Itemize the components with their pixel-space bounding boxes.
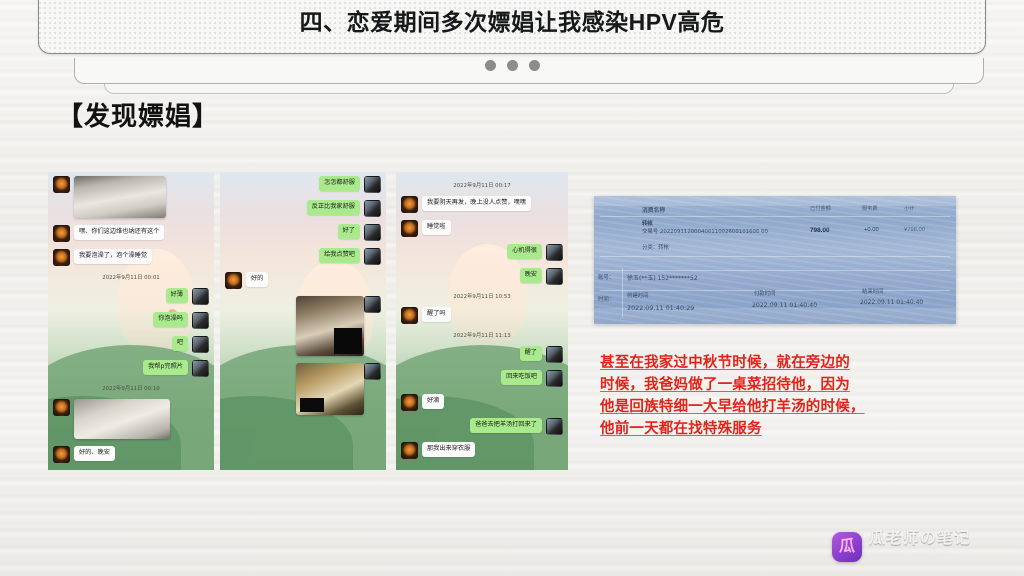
- chat-screenshot-2: 怎怎都舒服反正比我家舒服好了给我点赞吧好的: [220, 172, 386, 470]
- message-bubble[interactable]: 晚安: [520, 268, 542, 283]
- message-row: [53, 176, 209, 218]
- message-row: 好滴: [401, 394, 563, 411]
- message-bubble[interactable]: 我要阴天再发，晚上没人点赞，嘿嘿: [422, 196, 531, 211]
- avatar-self: [546, 370, 563, 387]
- message-row: 睡觉啦: [401, 220, 563, 237]
- watermark-cn-label: 瓜老师の笔记: [869, 531, 971, 547]
- message-row: [225, 296, 381, 356]
- avatar-self: [364, 296, 381, 313]
- watermark: 瓜 瓜老师の笔记 ccav online: [832, 531, 971, 562]
- message-row: 好的: [225, 272, 381, 289]
- message-row: 给我点赞吧: [225, 248, 381, 265]
- message-bubble[interactable]: 睡觉啦: [422, 220, 451, 235]
- message-bubble[interactable]: 好的、晚安: [74, 446, 115, 461]
- watermark-logo-icon: 瓜: [832, 532, 862, 562]
- message-image[interactable]: [74, 176, 166, 218]
- payment-receipt-screenshot: 消费名称 已付金额 服务费 小计 转帐 交易号 2022091120004001…: [594, 196, 956, 324]
- avatar-self: [364, 363, 381, 380]
- avatar-self: [192, 288, 209, 305]
- avatar-contact: [401, 196, 418, 213]
- chat-screenshot-3: 2022年9月11日 00:17我要阴天再发，晚上没人点赞，嘿嘿睡觉啦心机得很晚…: [396, 172, 568, 470]
- avatar-contact: [53, 249, 70, 266]
- avatar-contact: [401, 394, 418, 411]
- message-bubble[interactable]: 好的: [246, 272, 268, 287]
- message-row: 醒了吗: [401, 307, 563, 324]
- avatar-self: [364, 224, 381, 241]
- message-row: 回来吃饭吧: [401, 370, 563, 387]
- message-timestamp: 2022年9月11日 11:13: [401, 331, 563, 339]
- message-timestamp: 2022年9月11日 00:01: [53, 273, 209, 281]
- message-image[interactable]: [296, 363, 364, 415]
- message-timestamp: 2022年9月11日 10:53: [401, 292, 563, 300]
- avatar-contact: [401, 307, 418, 324]
- message-bubble[interactable]: 怎怎都舒服: [319, 176, 360, 191]
- message-bubble[interactable]: 你泡澡吗: [153, 312, 188, 327]
- avatar-contact: [225, 272, 242, 289]
- message-row: 吧: [53, 336, 209, 353]
- message-bubble[interactable]: 吧: [172, 336, 188, 351]
- message-row: 心机得很: [401, 244, 563, 261]
- message-row: 好了: [225, 224, 381, 241]
- message-row: 怎怎都舒服: [225, 176, 381, 193]
- message-bubble[interactable]: 醒了: [520, 346, 542, 361]
- message-row: 爸爸去把羊汤打回来了: [401, 418, 563, 435]
- avatar-contact: [53, 176, 70, 193]
- message-row: 反正比我家舒服: [225, 200, 381, 217]
- message-image[interactable]: [296, 296, 364, 356]
- message-row: 那我出来穿衣服: [401, 442, 563, 459]
- message-row: 我帮p完照片: [53, 360, 209, 377]
- avatar-self: [364, 248, 381, 265]
- chat-screenshot-1: 嘿、你们这边维也纳还有这个我要泡澡了，泡个澡睡觉2022年9月11日 00:01…: [48, 172, 214, 470]
- avatar-self: [546, 244, 563, 261]
- message-bubble[interactable]: 回来吃饭吧: [501, 370, 542, 385]
- message-image[interactable]: [74, 399, 170, 439]
- message-row: 好薄: [53, 288, 209, 305]
- message-row: 好的、晚安: [53, 446, 209, 463]
- avatar-self: [364, 176, 381, 193]
- red-line-4: 他前一天都在找特殊服务: [600, 418, 960, 440]
- header-dot-1: [485, 60, 496, 71]
- avatar-contact: [401, 220, 418, 237]
- section-title: 【发现嫖娼】: [57, 96, 219, 133]
- red-line-1: 甚至在我家过中秋节时候，就在旁边的: [600, 352, 960, 374]
- red-line-2: 时候，我爸妈做了一桌菜招待他，因为: [600, 374, 960, 396]
- message-row: [225, 363, 381, 415]
- message-row: 我要泡澡了，泡个澡睡觉: [53, 249, 209, 266]
- avatar-contact: [53, 225, 70, 242]
- avatar-self: [192, 336, 209, 353]
- avatar-self: [192, 360, 209, 377]
- message-bubble[interactable]: 好薄: [166, 288, 188, 303]
- message-bubble[interactable]: 心机得很: [507, 244, 542, 259]
- avatar-self: [546, 418, 563, 435]
- message-bubble[interactable]: 嘿、你们这边维也纳还有这个: [74, 225, 164, 240]
- message-row: [53, 399, 209, 439]
- watermark-text: 瓜老师の笔记 ccav online: [869, 531, 971, 562]
- page-title: 四、恋爱期间多次嫖娼让我感染HPV高危: [38, 0, 986, 54]
- message-list-1: 嘿、你们这边维也纳还有这个我要泡澡了，泡个澡睡觉2022年9月11日 00:01…: [48, 172, 214, 470]
- slide-canvas: 四、恋爱期间多次嫖娼让我感染HPV高危 【发现嫖娼】 嘿、你们这边维也纳还有这个…: [0, 0, 1024, 576]
- message-bubble[interactable]: 我要泡澡了，泡个澡睡觉: [74, 249, 152, 264]
- message-row: 你泡澡吗: [53, 312, 209, 329]
- red-line-3: 他是回族特细一大早给他打羊汤的时候，: [600, 396, 960, 418]
- message-timestamp: 2022年9月11日 00:17: [401, 181, 563, 189]
- red-annotation-text: 甚至在我家过中秋节时候，就在旁边的 时候，我爸妈做了一桌菜招待他，因为 他是回族…: [600, 352, 960, 440]
- avatar-self: [364, 200, 381, 217]
- message-row: 晚安: [401, 268, 563, 285]
- message-timestamp: 2022年9月11日 00:10: [53, 384, 209, 392]
- avatar-contact: [53, 399, 70, 416]
- watermark-en-label: ccav online: [869, 549, 971, 562]
- avatar-self: [546, 268, 563, 285]
- message-list-2: 怎怎都舒服反正比我家舒服好了给我点赞吧好的: [220, 172, 386, 470]
- header-dot-2: [507, 60, 518, 71]
- header-dot-3: [529, 60, 540, 71]
- message-bubble[interactable]: 那我出来穿衣服: [422, 442, 475, 457]
- message-list-3: 2022年9月11日 00:17我要阴天再发，晚上没人点赞，嘿嘿睡觉啦心机得很晚…: [396, 172, 568, 470]
- message-bubble[interactable]: 爸爸去把羊汤打回来了: [470, 418, 542, 433]
- message-bubble[interactable]: 好滴: [422, 394, 444, 409]
- message-bubble[interactable]: 给我点赞吧: [319, 248, 360, 263]
- message-row: 我要阴天再发，晚上没人点赞，嘿嘿: [401, 196, 563, 213]
- avatar-self: [546, 346, 563, 363]
- header-dots: [0, 60, 1024, 71]
- message-bubble[interactable]: 好了: [338, 224, 360, 239]
- message-bubble[interactable]: 反正比我家舒服: [307, 200, 360, 215]
- message-bubble[interactable]: 醒了吗: [422, 307, 451, 322]
- avatar-self: [192, 312, 209, 329]
- message-row: 醒了: [401, 346, 563, 363]
- avatar-contact: [53, 446, 70, 463]
- message-row: 嘿、你们这边维也纳还有这个: [53, 225, 209, 242]
- avatar-contact: [401, 442, 418, 459]
- message-bubble[interactable]: 我帮p完照片: [143, 360, 188, 375]
